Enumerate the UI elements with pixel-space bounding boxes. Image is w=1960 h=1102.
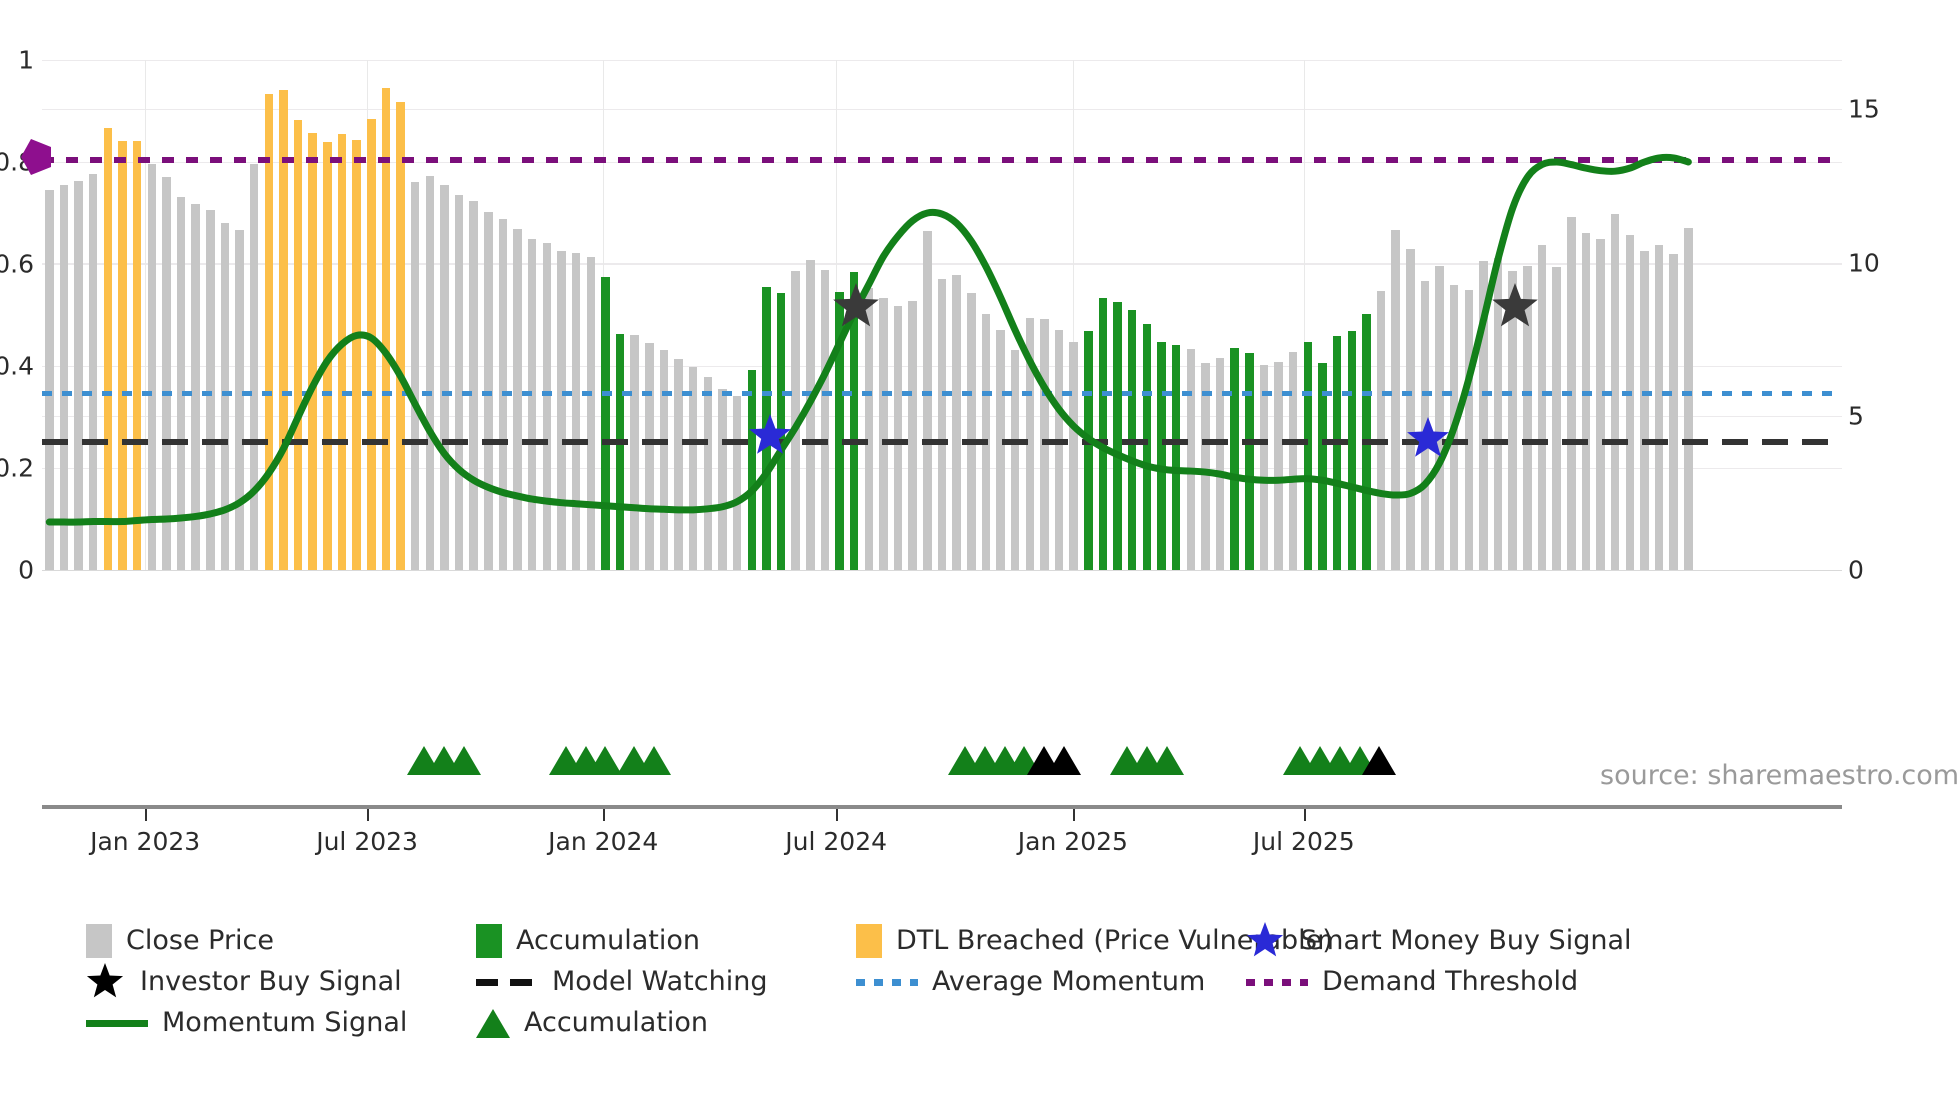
legend-square-icon [856,924,882,958]
investor-buy-signal-star [832,283,880,335]
legend-item[interactable]: Model Watching [476,966,767,998]
legend-star-icon [1246,922,1286,960]
momentum-signal-line [42,60,1842,570]
x-tick-mark [1304,809,1306,821]
x-tick-mark [1073,809,1075,821]
legend-item-label: Close Price [126,925,274,957]
investor-buy-signal-star [1491,283,1539,335]
legend-dash-icon [476,979,538,986]
chart-page: 00.20.40.60.81 051015 Jan 2023Jul 2023Ja… [0,0,1960,1102]
legend-item-label: Demand Threshold [1322,966,1578,998]
legend-triangle-icon [476,1009,510,1038]
accumulation-triangle [1362,746,1396,775]
x-tick-mark [603,809,605,821]
right-y-tick-label: 15 [1848,95,1880,124]
plot-area [42,60,1842,570]
x-tick-label: Jan 2023 [90,827,200,856]
right-y-axis: 051015 [1848,60,1908,570]
legend-line-icon [86,1020,148,1027]
plot-inner [42,60,1842,570]
legend-item-label: Investor Buy Signal [140,966,402,998]
x-tick-mark [836,809,838,821]
accumulation-triangle [447,746,481,775]
legend-item[interactable]: Demand Threshold [1246,966,1578,998]
x-tick-label: Jul 2023 [316,827,418,856]
right-y-tick-label: 10 [1848,248,1880,277]
legend-item[interactable]: Accumulation [476,925,700,957]
x-tick-mark [145,809,147,821]
legend-item-label: Accumulation [524,1007,708,1039]
legend-star-icon [86,963,126,1001]
source-attribution: source: sharemaestro.com [1600,760,1959,791]
x-tick-label: Jul 2025 [1253,827,1355,856]
accumulation-triangle [1150,746,1184,775]
legend-square-icon [86,924,112,958]
accumulation-triangle [1047,746,1081,775]
x-tick-label: Jan 2024 [548,827,658,856]
legend-item[interactable]: Momentum Signal [86,1007,407,1039]
x-axis-ticks: Jan 2023Jul 2023Jan 2024Jul 2024Jan 2025… [42,809,1842,869]
x-tick-label: Jul 2024 [785,827,887,856]
legend-dotted-icon [856,979,918,986]
chart-legend: Close PriceAccumulationDTL Breached (Pri… [86,925,1906,1055]
left-y-tick-label: 0.6 [0,250,34,279]
legend-item-label: Model Watching [552,966,767,998]
accumulation-triangle-strip [42,735,1842,775]
legend-item-label: Momentum Signal [162,1007,407,1039]
legend-item-label: Smart Money Buy Signal [1300,925,1632,957]
right-y-tick-label: 5 [1848,402,1864,431]
x-tick-mark [367,809,369,821]
left-y-tick-label: 0.2 [0,454,34,483]
gridline [42,570,1842,571]
legend-item[interactable]: Average Momentum [856,966,1205,998]
legend-item[interactable]: Close Price [86,925,274,957]
legend-item[interactable]: Smart Money Buy Signal [1246,925,1632,957]
left-y-tick-label: 0.4 [0,352,34,381]
demand-threshold-marker [21,137,55,181]
legend-item[interactable]: Investor Buy Signal [86,966,402,998]
accumulation-triangle [637,746,671,775]
legend-item-label: Average Momentum [932,966,1205,998]
legend-square-icon [476,924,502,958]
right-y-tick-label: 0 [1848,556,1864,585]
legend-dotted-icon [1246,979,1308,986]
legend-item-label: Accumulation [516,925,700,957]
x-tick-label: Jan 2025 [1018,827,1128,856]
smart-money-buy-signal-star [748,414,792,462]
left-y-tick-label: 0 [18,556,34,585]
legend-item[interactable]: Accumulation [476,1007,708,1039]
smart-money-buy-signal-star [1406,417,1450,465]
left-y-tick-label: 1 [18,46,34,75]
